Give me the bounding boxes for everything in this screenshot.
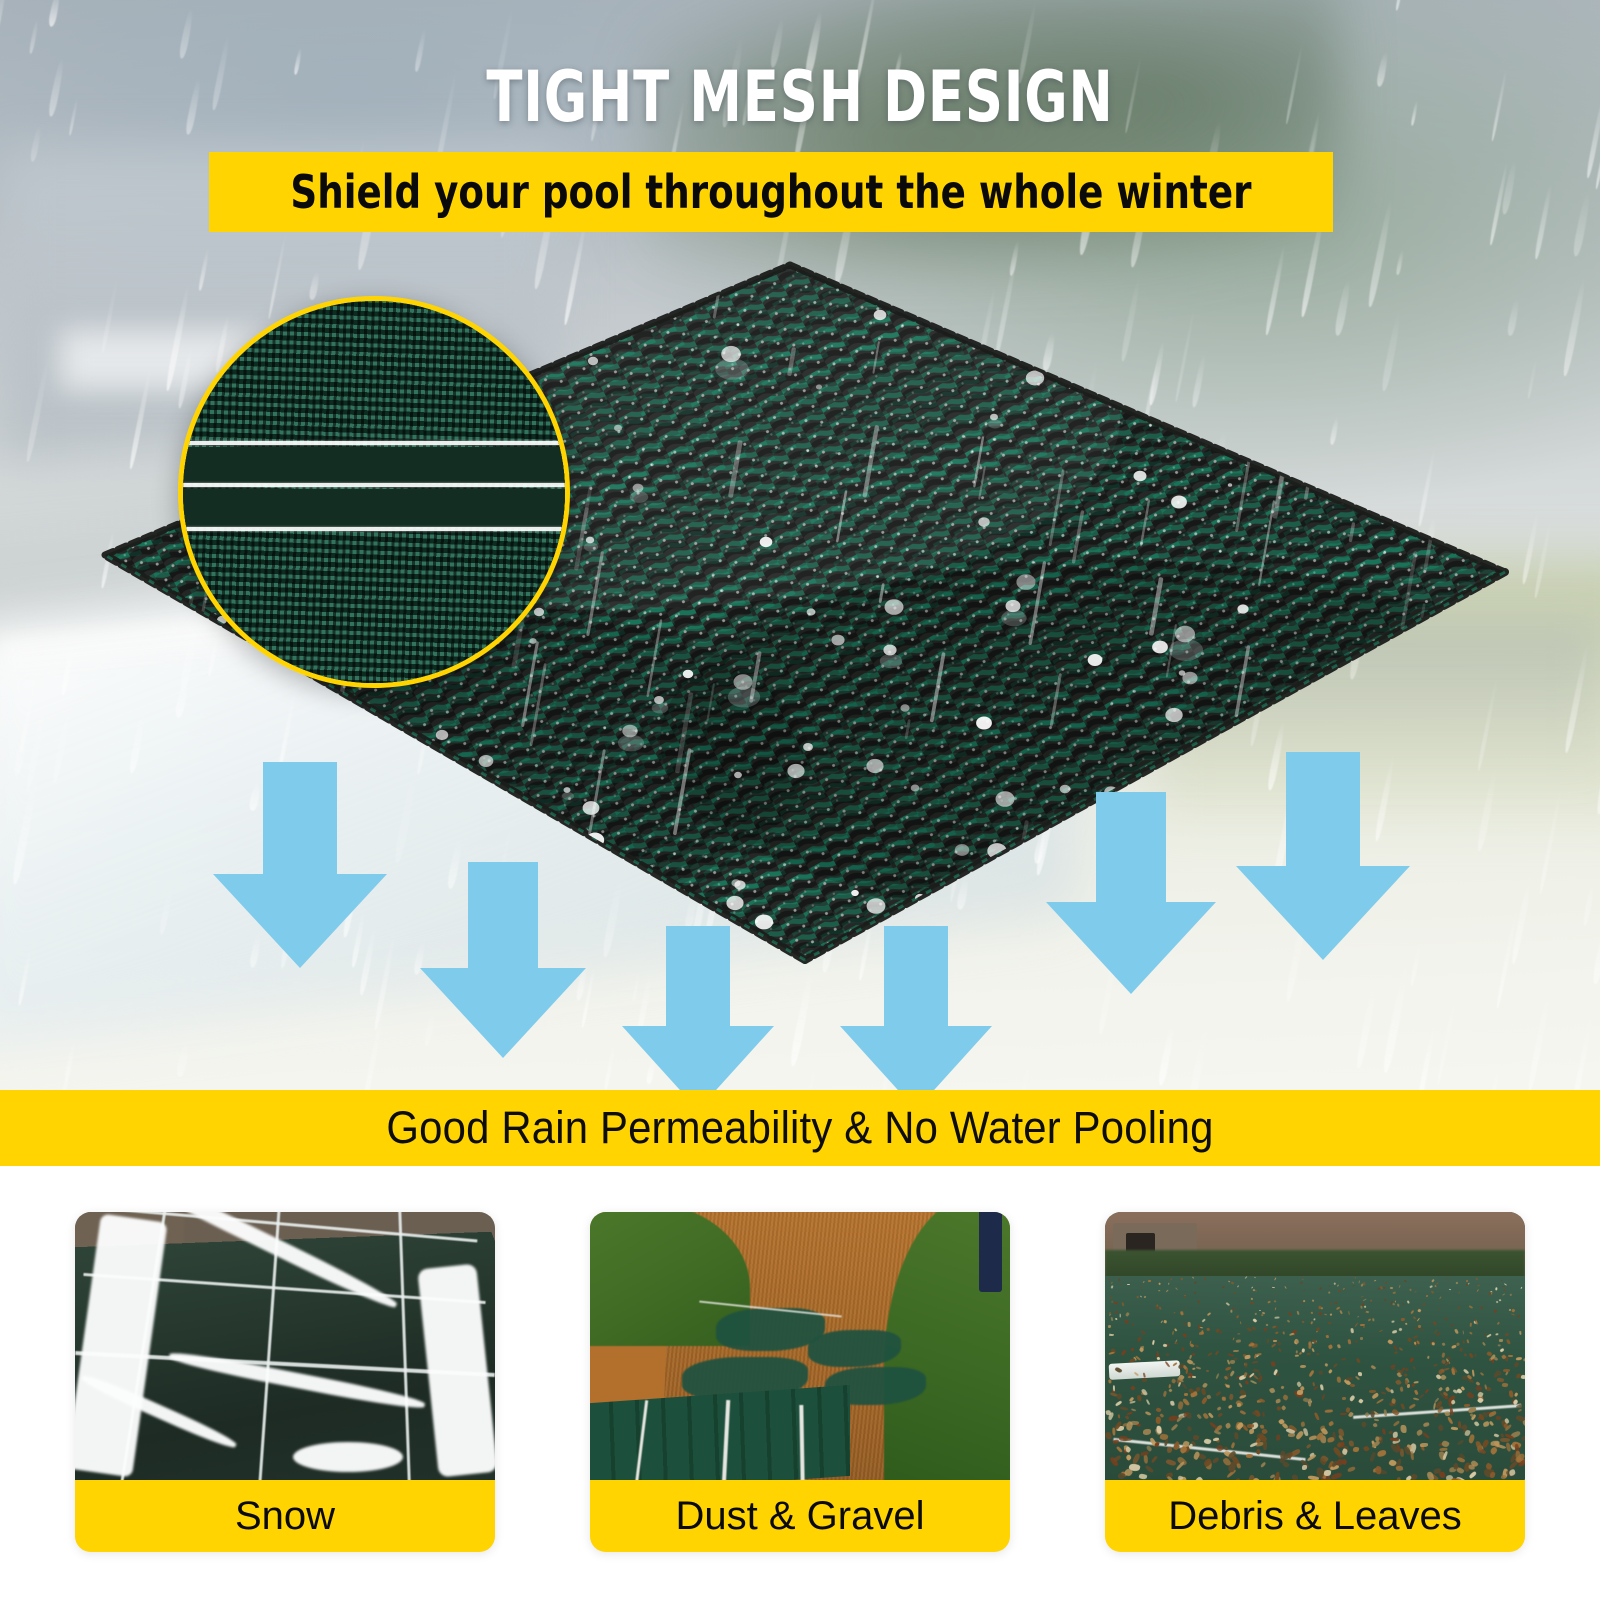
- reinforcement-strap-upper: [178, 447, 570, 483]
- product-infographic: TIGHT MESH DESIGN Shield your pool throu…: [0, 0, 1600, 1600]
- subtitle-banner: Shield your pool throughout the whole wi…: [209, 152, 1333, 232]
- water-flow-arrow-1: [205, 762, 395, 972]
- reinforcement-strap-lower: [178, 489, 570, 527]
- water-flow-arrow-3: [614, 926, 782, 1090]
- feature-banner-text: Good Rain Permeability & No Water Poolin…: [56, 1090, 1544, 1166]
- water-flow-arrow-5: [1038, 792, 1224, 998]
- mesh-closeup-magnifier: [178, 296, 570, 688]
- card-caption-dust-gravel: Dust & Gravel: [590, 1480, 1010, 1552]
- card-caption-snow: Snow: [75, 1480, 495, 1552]
- snow-scene: [75, 1212, 495, 1480]
- water-flow-arrow-2: [412, 862, 594, 1062]
- card-caption-debris-leaves-text: Debris & Leaves: [1168, 1494, 1461, 1539]
- dust-gravel-scene: [590, 1212, 1010, 1480]
- stitch-line-1: [178, 441, 570, 445]
- stitch-line-3: [178, 527, 570, 531]
- water-flow-arrow-4: [832, 926, 1000, 1090]
- use-case-card-row: Snow: [0, 1166, 1600, 1600]
- use-case-card-debris-leaves[interactable]: Debris & Leaves: [1105, 1212, 1525, 1552]
- card-caption-snow-text: Snow: [235, 1494, 335, 1539]
- debris-leaves-photo: [1105, 1212, 1525, 1480]
- card-caption-debris-leaves: Debris & Leaves: [1105, 1480, 1525, 1552]
- fence-pole: [979, 1212, 1002, 1292]
- hero-section: TIGHT MESH DESIGN Shield your pool throu…: [0, 0, 1600, 1090]
- snow-photo: [75, 1212, 495, 1480]
- mesh-cover-foreground: [590, 1385, 850, 1480]
- page-title: TIGHT MESH DESIGN: [128, 56, 1472, 138]
- subtitle-text: Shield your pool throughout the whole wi…: [290, 165, 1251, 219]
- stitch-line-2: [178, 483, 570, 487]
- debris-leaves-scene: [1105, 1212, 1525, 1480]
- card-caption-dust-gravel-text: Dust & Gravel: [676, 1494, 925, 1539]
- use-case-card-snow[interactable]: Snow: [75, 1212, 495, 1552]
- use-case-card-dust-gravel[interactable]: Dust & Gravel: [590, 1212, 1010, 1552]
- dust-gravel-photo: [590, 1212, 1010, 1480]
- water-flow-arrow-6: [1228, 752, 1418, 964]
- feature-banner: Good Rain Permeability & No Water Poolin…: [0, 1090, 1600, 1166]
